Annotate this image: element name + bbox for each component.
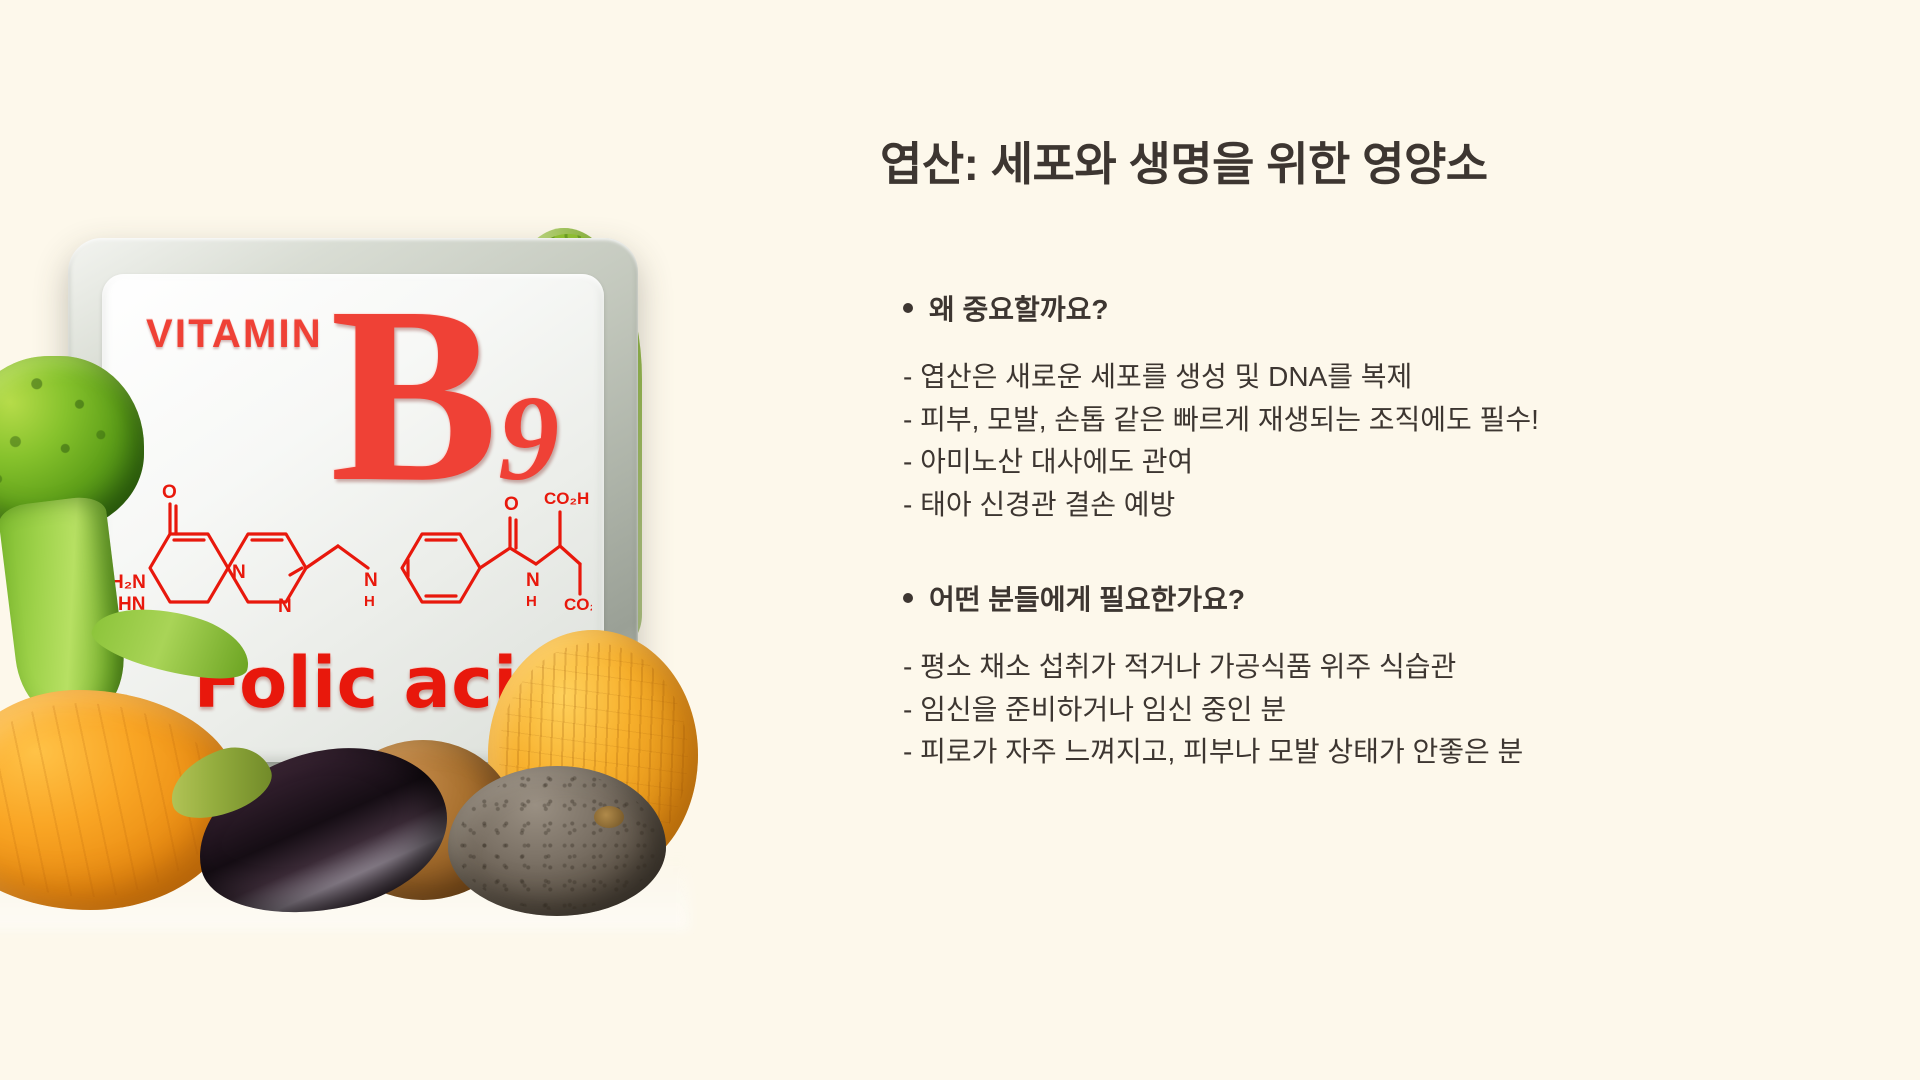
visual-stage: VITAMIN B9 — [0, 0, 775, 1080]
vitamin-word-label: VITAMIN — [146, 312, 323, 357]
body-sections: 왜 중요할까요? - 엽산은 새로운 세포를 생성 및 DNA를 복제 - 피부… — [903, 288, 1903, 774]
list-item: - 태아 신경관 결손 예방 — [903, 484, 1903, 527]
section-who-needs: 어떤 분들에게 필요한가요? - 평소 채소 섭취가 적거나 가공식품 위주 식… — [903, 578, 1903, 774]
avocado-icon — [448, 766, 666, 916]
molecule-label-O: O — [162, 482, 177, 503]
slide-root: VITAMIN B9 — [0, 0, 1920, 1080]
section-items: - 엽산은 새로운 세포를 생성 및 DNA를 복제 - 피부, 모발, 손톱 … — [903, 356, 1903, 526]
product-visual: VITAMIN B9 — [0, 0, 775, 1080]
avocado-stem-icon — [594, 806, 624, 828]
list-item: - 피부, 모발, 손톱 같은 빠르게 재생되는 조직에도 필수! — [903, 399, 1903, 442]
bullet-dot-icon — [903, 593, 913, 603]
folic-acid-structure-icon: O HN N N N H O N H CO₂H — [112, 460, 592, 620]
section-heading-label: 어떤 분들에게 필요한가요? — [929, 578, 1245, 618]
section-items: - 평소 채소 섭취가 적거나 가공식품 위주 식습관 - 임신을 준비하거나 … — [903, 646, 1903, 774]
molecule-label-NH: N — [364, 570, 378, 591]
molecule-label-CO2H-top: CO₂H — [544, 489, 589, 508]
molecule-label-N1: N — [232, 562, 246, 583]
molecule-label-amide-N: N — [526, 570, 540, 591]
list-item: - 피로가 자주 느껴지고, 피부나 모발 상태가 안좋은 분 — [903, 731, 1903, 774]
molecule-label-O2: O — [504, 494, 519, 515]
list-item: - 평소 채소 섭취가 적거나 가공식품 위주 식습관 — [903, 646, 1903, 689]
content-column: 엽산: 세포와 생명을 위한 영양소 왜 중요할까요? - 엽산은 새로운 세포… — [775, 0, 1920, 1080]
list-item: - 엽산은 새로운 세포를 생성 및 DNA를 복제 — [903, 356, 1903, 399]
section-heading-label: 왜 중요할까요? — [929, 288, 1108, 328]
bullet-dot-icon — [903, 303, 913, 313]
molecule-label-amide-H: H — [526, 593, 537, 610]
molecule-label-N2: N — [278, 596, 292, 617]
molecule-label-H2N: H₂N — [112, 572, 146, 593]
page-title: 엽산: 세포와 생명을 위한 영양소 — [880, 128, 1488, 194]
molecule-label-CO2H-bottom: CO₂H — [564, 595, 592, 614]
section-why-important: 왜 중요할까요? - 엽산은 새로운 세포를 생성 및 DNA를 복제 - 피부… — [903, 288, 1903, 526]
section-heading: 왜 중요할까요? — [903, 288, 1903, 328]
molecule-label-NH-h: H — [364, 593, 375, 610]
list-item: - 임신을 준비하거나 임신 중인 분 — [903, 689, 1903, 732]
section-heading: 어떤 분들에게 필요한가요? — [903, 578, 1903, 618]
list-item: - 아미노산 대사에도 관여 — [903, 441, 1903, 484]
